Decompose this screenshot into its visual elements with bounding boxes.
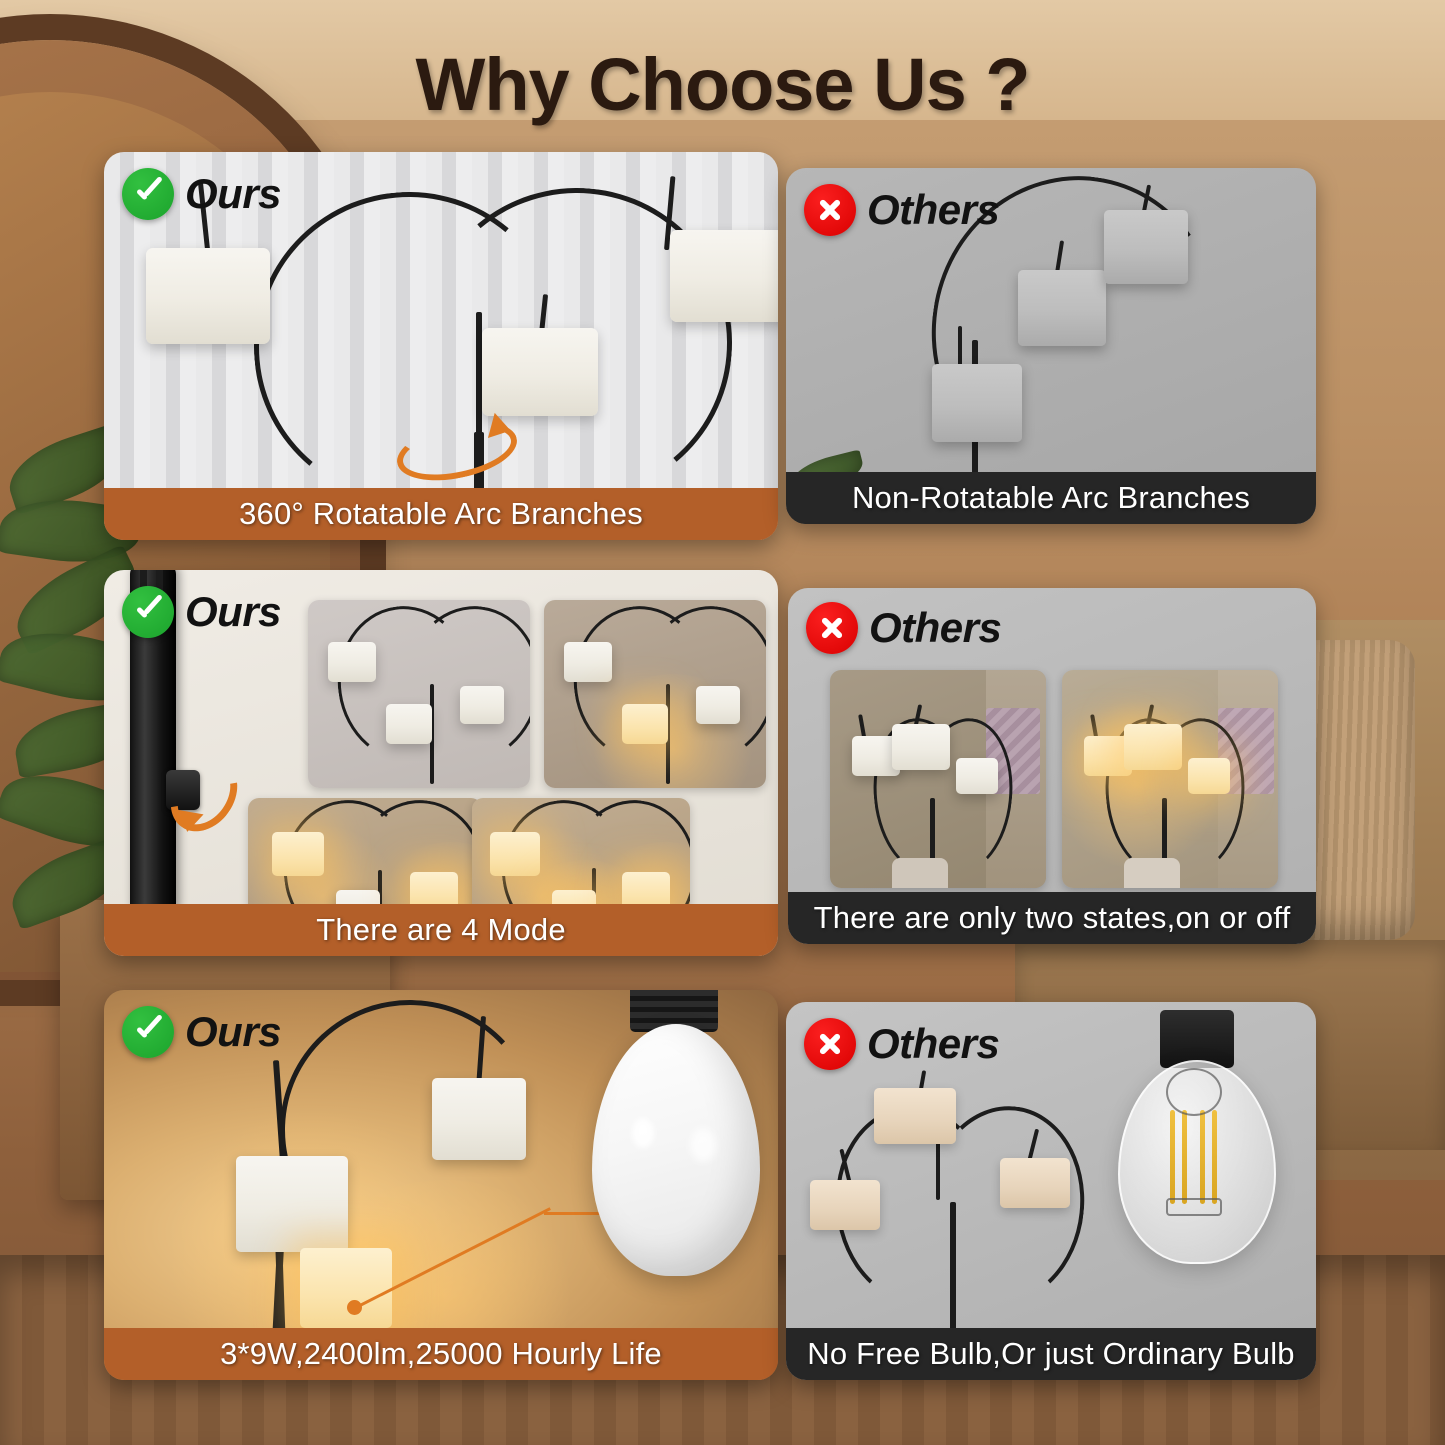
panel-others-bulb: Others No Free Bulb,Or just Ordinary Bul… xyxy=(786,1002,1316,1380)
state-thumb-on xyxy=(1062,670,1278,888)
check-circle-icon xyxy=(122,168,174,220)
badge-label: Ours xyxy=(185,170,281,218)
badge-others: Others xyxy=(804,1018,999,1070)
state-thumb-off xyxy=(830,670,1046,888)
badge-label: Others xyxy=(869,604,1001,652)
mode-thumb-2 xyxy=(544,600,766,788)
panel-ours-rotatable: Ours 360° Rotatable Arc Branches xyxy=(104,152,778,540)
caption-others-rotatable: Non-Rotatable Arc Branches xyxy=(786,472,1316,524)
mode-thumb-1 xyxy=(308,600,530,788)
panel-ours-modes: Ours There are 4 Mode xyxy=(104,570,778,956)
badge-ours: Ours xyxy=(122,586,281,638)
page-title: Why Choose Us ? xyxy=(0,42,1445,127)
infographic-root: Why Choose Us ? Ours 360° Rotatable Arc … xyxy=(0,0,1445,1445)
badge-label: Others xyxy=(867,186,999,234)
badge-label: Ours xyxy=(185,588,281,636)
badge-ours: Ours xyxy=(122,1006,281,1058)
badge-others: Others xyxy=(804,184,999,236)
x-circle-icon xyxy=(806,602,858,654)
check-circle-icon xyxy=(122,586,174,638)
filament-bulb xyxy=(1104,1002,1284,1282)
x-circle-icon xyxy=(804,1018,856,1070)
panel-ours-bulb: Ours 3*9W,2400lm,25000 Hourly Life xyxy=(104,990,778,1380)
led-bulb xyxy=(574,990,774,1328)
callout-dot xyxy=(347,1300,362,1315)
caption-others-bulb: No Free Bulb,Or just Ordinary Bulb xyxy=(786,1328,1316,1380)
x-circle-icon xyxy=(804,184,856,236)
caption-ours-rotatable: 360° Rotatable Arc Branches xyxy=(104,488,778,540)
panel-others-modes: Others There are only two states,on or o… xyxy=(788,588,1316,944)
badge-label: Others xyxy=(867,1020,999,1068)
check-circle-icon xyxy=(122,1006,174,1058)
badge-label: Ours xyxy=(185,1008,281,1056)
badge-others: Others xyxy=(806,602,1001,654)
caption-ours-bulb: 3*9W,2400lm,25000 Hourly Life xyxy=(104,1328,778,1380)
panel-others-rotatable: Others Non-Rotatable Arc Branches xyxy=(786,168,1316,524)
caption-ours-modes: There are 4 Mode xyxy=(104,904,778,956)
caption-others-modes: There are only two states,on or off xyxy=(788,892,1316,944)
badge-ours: Ours xyxy=(122,168,281,220)
